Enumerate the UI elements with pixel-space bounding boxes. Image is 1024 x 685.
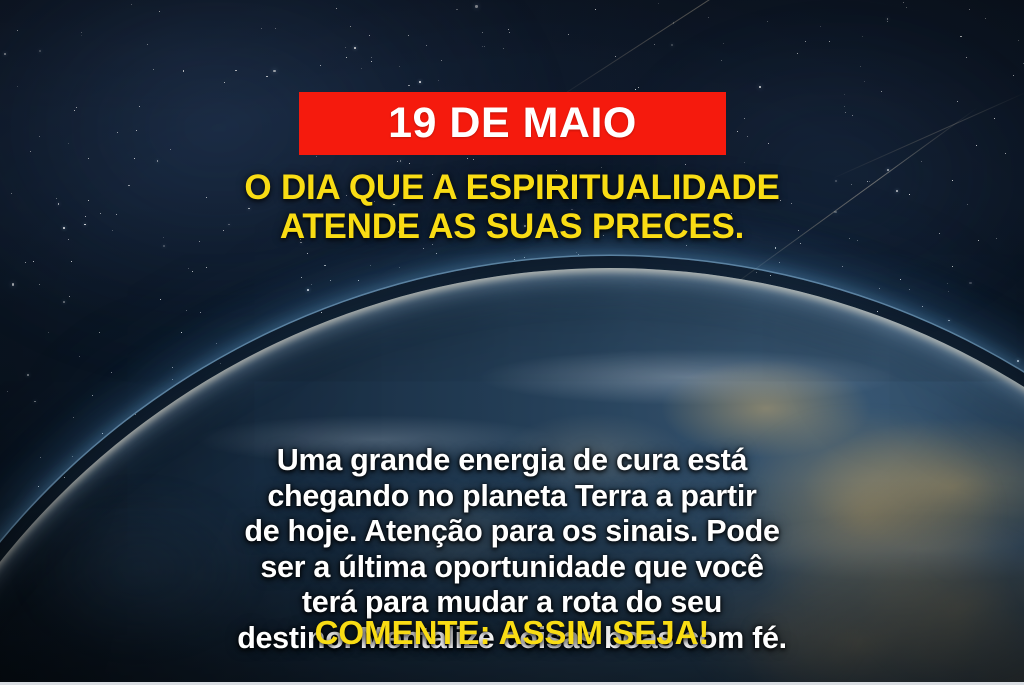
headline-line-2: ATENDE AS SUAS PRECES.	[0, 207, 1024, 246]
headline-line-1: O DIA QUE A ESPIRITUALIDADE	[0, 168, 1024, 207]
body-copy-line-3: de hoje. Atenção para os sinais. Pode	[46, 514, 978, 550]
date-banner: 19 DE MAIO	[299, 92, 726, 155]
body-copy-line-4: ser a última oportunidade que você	[46, 550, 978, 586]
date-banner-label: 19 DE MAIO	[388, 102, 637, 145]
poster-content: 19 DE MAIO O DIA QUE A ESPIRITUALIDADE A…	[0, 0, 1024, 685]
call-to-action-text: COMENTE: ASSIM SEJA!	[0, 614, 1024, 651]
poster-canvas: 19 DE MAIO O DIA QUE A ESPIRITUALIDADE A…	[0, 0, 1024, 685]
body-copy-line-2: chegando no planeta Terra a partir	[46, 479, 978, 515]
headline: O DIA QUE A ESPIRITUALIDADE ATENDE AS SU…	[0, 168, 1024, 246]
body-copy-line-1: Uma grande energia de cura está	[46, 443, 978, 479]
